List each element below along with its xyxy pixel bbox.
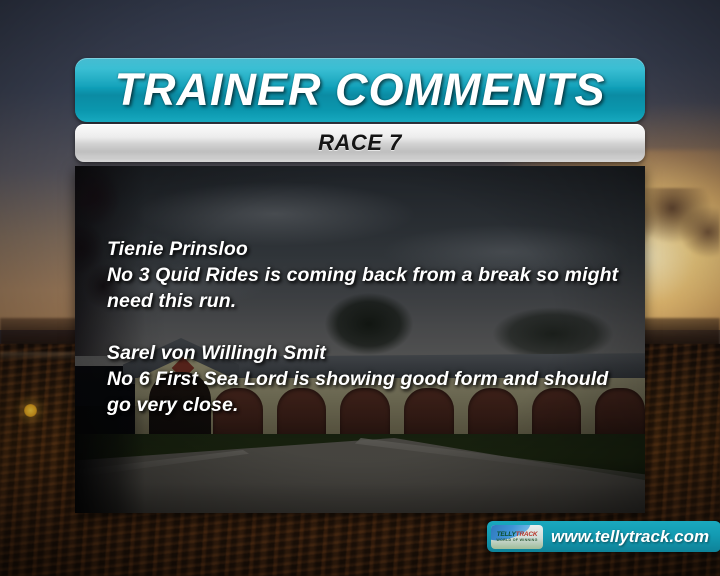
- trainer-comment-text: No 3 Quid Rides is coming back from a br…: [107, 262, 623, 314]
- trainer-comment-text: No 6 First Sea Lord is showing good form…: [107, 366, 623, 418]
- trainer-name: Tienie Prinsloo: [107, 236, 623, 262]
- logo-word-track: TRACK: [516, 531, 538, 538]
- comment-block: Sarel von Willingh Smit No 6 First Sea L…: [107, 340, 623, 418]
- trainer-name: Sarel von Willingh Smit: [107, 340, 623, 366]
- comment-block: Tienie Prinsloo No 3 Quid Rides is comin…: [107, 236, 623, 314]
- logo-word-telly: TELLY: [497, 531, 516, 538]
- comments-list: Tienie Prinsloo No 3 Quid Rides is comin…: [107, 236, 623, 418]
- tellytrack-logo-icon: TELLYTRACK WORLD OF WINNING: [491, 525, 543, 549]
- title-bar: TRAINER COMMENTS: [75, 58, 645, 122]
- logo-wordmark: TELLYTRACK: [497, 531, 538, 538]
- race-label: RACE 7: [318, 130, 402, 156]
- page-title: TRAINER COMMENTS: [115, 64, 606, 116]
- broadcaster-footer-bar: TELLYTRACK WORLD OF WINNING www.tellytra…: [487, 521, 720, 552]
- stable-photo: Tienie Prinsloo No 3 Quid Rides is comin…: [75, 166, 645, 513]
- race-subtitle-bar: RACE 7: [75, 124, 645, 162]
- website-url: www.tellytrack.com: [551, 527, 709, 547]
- logo-tagline: WORLD OF WINNING: [496, 538, 537, 543]
- trainer-comments-panel: TRAINER COMMENTS RACE 7: [75, 58, 645, 513]
